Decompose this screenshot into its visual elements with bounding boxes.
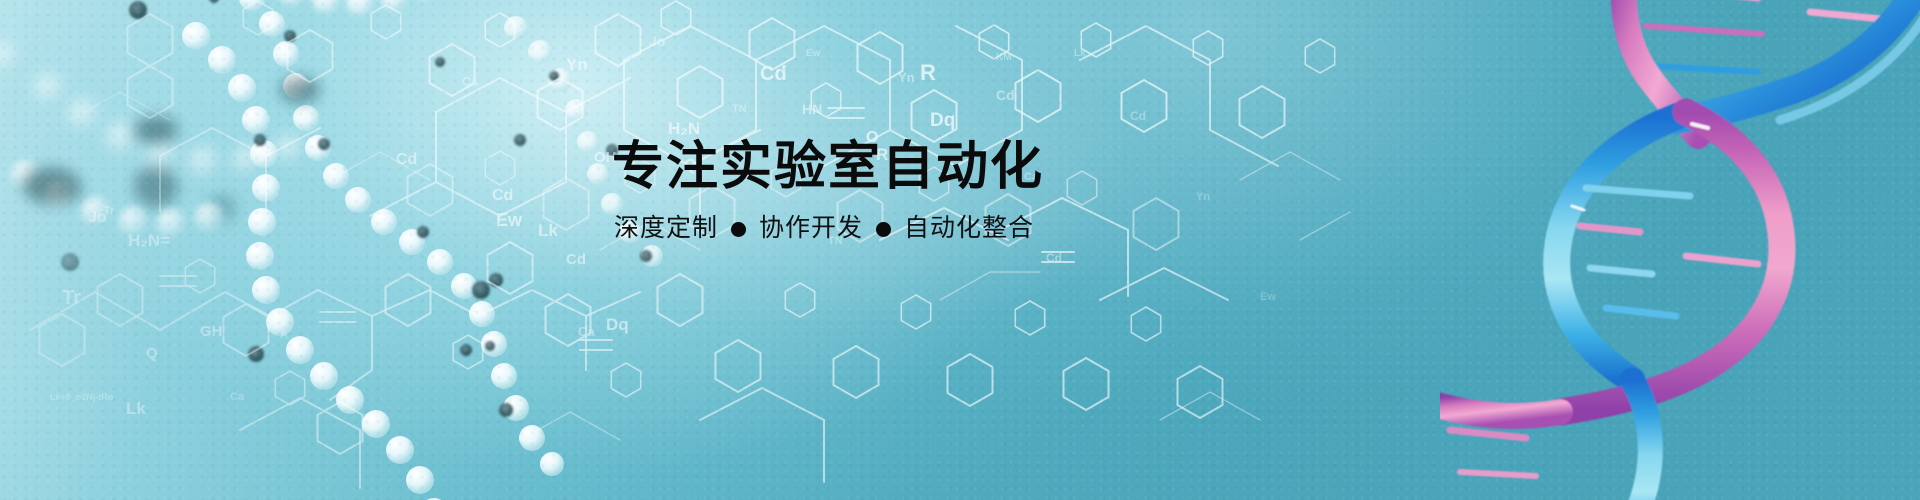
svg-text:H₂N: H₂N [668, 119, 700, 138]
svg-text:A: A [280, 329, 288, 341]
banner-copy: 专注实验室自动化 深度定制 协作开发 自动化整合 [612, 140, 1312, 244]
svg-text:GH: GH [200, 323, 223, 340]
pearl-dna-helix-graphic [0, 0, 720, 500]
svg-text:Lk: Lk [1074, 48, 1086, 59]
svg-text:Dq: Dq [606, 315, 629, 334]
svg-text:H₂N=: H₂N= [128, 231, 170, 250]
svg-text:HN: HN [802, 101, 822, 117]
chemistry-structure-overlay: Cd Jo Yn Ca Yn R Cd H₂N O Dq TN Cd Q Ew … [0, 0, 1920, 500]
svg-text:Ca: Ca [230, 391, 245, 403]
halftone-texture-dark [0, 0, 1920, 500]
subtitle-part-3: 自动化整合 [904, 213, 1034, 244]
bullet-separator-icon [731, 222, 746, 237]
svg-text:Cd: Cd [566, 251, 586, 268]
svg-text:Yn: Yn [566, 55, 588, 74]
svg-text:KM: KM [996, 52, 1012, 63]
svg-text:Cd: Cd [396, 151, 417, 168]
hero-banner: Cd Jo Yn Ca Yn R Cd H₂N O Dq TN Cd Q Ew … [0, 0, 1920, 500]
svg-text:Dq: Dq [930, 110, 955, 131]
svg-text:TN: TN [732, 103, 747, 115]
svg-text:R: R [920, 60, 936, 85]
svg-text:Jo: Jo [649, 33, 665, 49]
svg-text:Lk+5_o2Nj-tRn: Lk+5_o2Nj-tRn [50, 392, 113, 402]
svg-text:Cd: Cd [1046, 251, 1062, 265]
svg-text:Tr: Tr [104, 205, 115, 217]
svg-text:Ew: Ew [806, 48, 821, 59]
svg-text:Jo: Jo [88, 209, 107, 226]
svg-text:Lk: Lk [126, 399, 146, 418]
bullet-separator-icon [876, 222, 891, 237]
svg-text:Ca: Ca [462, 74, 479, 89]
subtitle-part-1: 深度定制 [614, 213, 718, 244]
svg-text:Yn: Yn [898, 70, 915, 85]
svg-text:Ew: Ew [1260, 291, 1276, 303]
svg-text:Cd: Cd [760, 63, 787, 85]
banner-subtitle: 深度定制 协作开发 自动化整合 [614, 213, 1312, 244]
svg-text:Tr: Tr [62, 287, 81, 309]
svg-text:Ca: Ca [578, 324, 595, 339]
svg-text:Q: Q [146, 345, 158, 362]
page-title: 专注实验室自动化 [612, 140, 1312, 195]
svg-text:Cd: Cd [1130, 109, 1146, 123]
color-dna-helix-graphic [1440, 0, 1920, 500]
svg-text:Cd: Cd [492, 187, 513, 204]
svg-text:Cd: Cd [996, 87, 1015, 103]
svg-text:Lk: Lk [538, 221, 558, 240]
subtitle-part-2: 协作开发 [759, 213, 863, 244]
halftone-texture [0, 0, 1920, 500]
svg-text:Ew: Ew [496, 210, 523, 230]
